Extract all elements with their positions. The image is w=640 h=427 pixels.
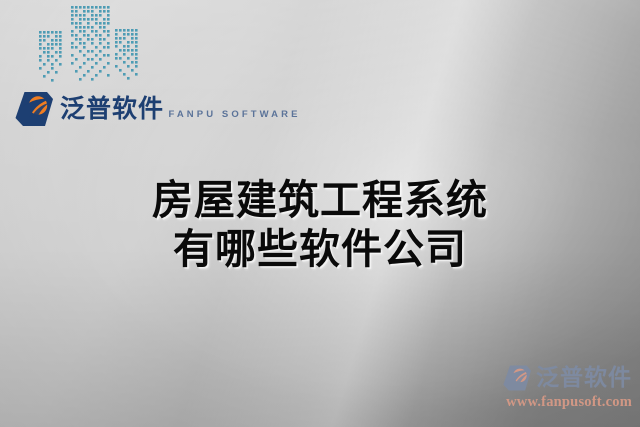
watermark-lockup: 泛普软件 xyxy=(502,364,632,392)
brand-name-cn: 泛普软件 xyxy=(60,94,164,123)
page-title-line-2: 有哪些软件公司 xyxy=(0,225,640,274)
watermark-name-cn: 泛普软件 xyxy=(536,367,632,390)
page-title: 房屋建筑工程系统 有哪些软件公司 xyxy=(0,176,640,274)
watermark: 泛普软件 www.fanpusoft.com xyxy=(502,364,632,411)
brand-wordmark: 泛普软件 FANPU SOFTWARE xyxy=(60,96,301,122)
fanpu-hexagon-logo-icon xyxy=(14,90,54,128)
brand-logo: 泛普软件 FANPU SOFTWARE xyxy=(14,90,301,128)
page-title-line-1: 房屋建筑工程系统 xyxy=(0,176,640,225)
watermark-url: www.fanpusoft.com xyxy=(506,394,632,411)
brand-name-en: FANPU SOFTWARE xyxy=(168,109,300,120)
poster-canvas: 泛普软件 FANPU SOFTWARE 房屋建筑工程系统 有哪些软件公司 泛普软… xyxy=(0,0,640,427)
pixel-building-skyline-icon xyxy=(36,2,144,84)
fanpu-hexagon-logo-icon xyxy=(502,364,532,392)
